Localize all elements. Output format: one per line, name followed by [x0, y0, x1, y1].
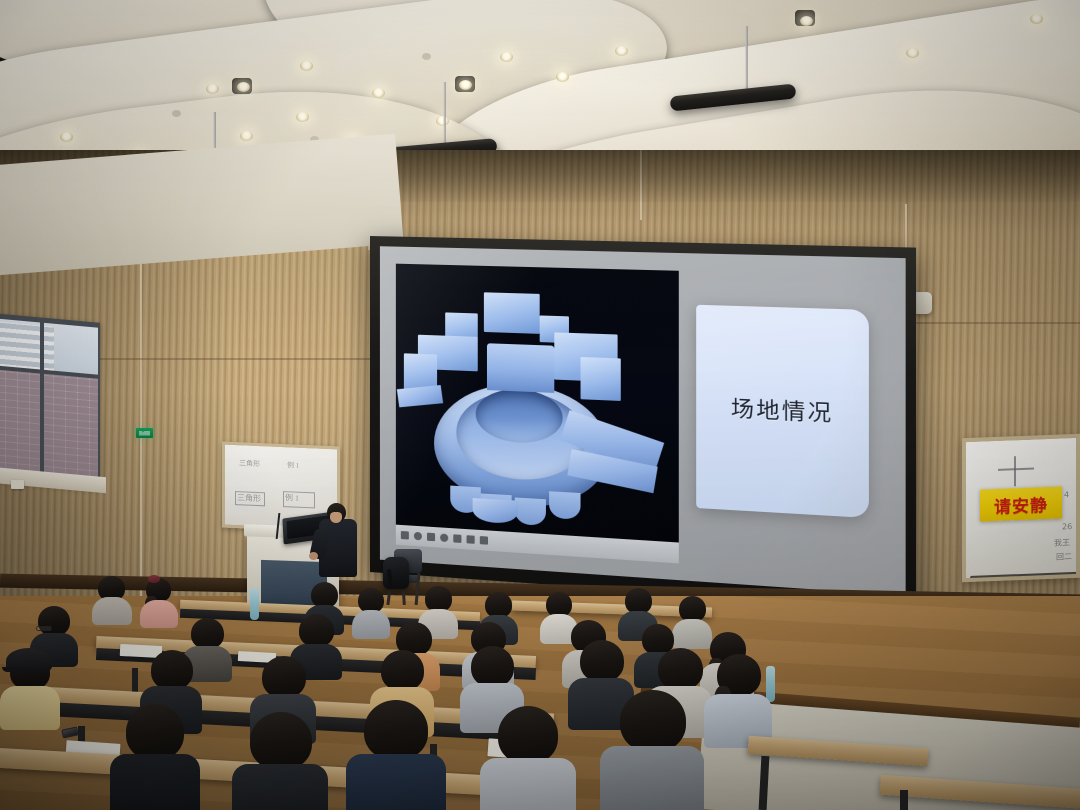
- student: [480, 706, 576, 810]
- student: [352, 588, 390, 636]
- window: [0, 313, 100, 489]
- whiteboard-left-note: 三角形: [239, 459, 260, 469]
- student-head: [250, 712, 312, 770]
- presenter-face: [330, 512, 342, 523]
- model-ramp: [397, 385, 443, 407]
- student-head: [364, 700, 428, 760]
- quiet-notice-text: 请安静: [994, 490, 1048, 517]
- student: [346, 700, 446, 810]
- student-head: [126, 704, 184, 760]
- model-stage-volume: [487, 343, 555, 393]
- student-torso: [352, 610, 390, 639]
- downlight: [296, 112, 309, 122]
- student-head: [498, 706, 558, 764]
- 3d-model-viewport: [396, 264, 679, 543]
- select-icon[interactable]: [414, 532, 422, 541]
- window-brick-wall-outside: [0, 367, 98, 484]
- downlight: [800, 16, 813, 26]
- whiteboard-left-label: 例 1: [285, 493, 299, 503]
- whiteboard-right-note: 回二: [1056, 552, 1072, 563]
- whiteboard-right[interactable]: 请安静 4 26 我王 回二: [962, 434, 1080, 583]
- student-torso: [346, 754, 446, 810]
- model-block: [484, 292, 540, 334]
- student: [140, 578, 178, 624]
- whiteboard-left-label: 三角形: [237, 493, 261, 503]
- slide-title-card: 场地情况: [697, 304, 869, 517]
- whiteboard-cross-mark: [1014, 456, 1016, 486]
- whiteboard-right-note: 我王: [1054, 538, 1070, 549]
- lecture-hall-photo: 三角形 例 1 三角形 例 1 请安静 4 26 我王 回二: [0, 0, 1080, 810]
- student-head: [151, 650, 193, 690]
- eyeglasses: [36, 626, 52, 631]
- model-block: [580, 357, 620, 402]
- student-head: [658, 648, 703, 690]
- student: [704, 654, 772, 746]
- presenter-hand: [309, 552, 318, 560]
- pen-icon[interactable]: [401, 531, 409, 540]
- downlight: [240, 131, 253, 141]
- student-torso: [140, 600, 178, 628]
- sprinkler-icon: [172, 110, 181, 117]
- whiteboard-right-note: 4: [1064, 490, 1069, 500]
- downlight: [372, 88, 385, 98]
- student-head: [191, 618, 224, 649]
- slide-title-text: 场地情况: [731, 392, 834, 428]
- downlight: [237, 82, 250, 92]
- student-head: [471, 646, 514, 687]
- downlight: [615, 46, 628, 56]
- exit-sign: [136, 428, 153, 438]
- cap-brim: [2, 667, 32, 672]
- downlight: [206, 84, 219, 94]
- downlight: [459, 80, 472, 90]
- student-torso: [92, 597, 132, 625]
- projection-screen-surface: 场地情况: [380, 246, 906, 595]
- student-head: [38, 606, 70, 636]
- model-scallop: [549, 492, 580, 521]
- student-head: [262, 656, 306, 698]
- downlight: [906, 48, 919, 58]
- camera-icon[interactable]: [479, 536, 487, 545]
- water-bottle[interactable]: [250, 588, 259, 620]
- wall-outlet[interactable]: [11, 480, 24, 489]
- wall-panel-seam: [100, 358, 380, 360]
- student: [600, 690, 704, 810]
- student: [110, 704, 200, 810]
- downlight: [556, 72, 569, 82]
- backpack-strap: [387, 569, 393, 589]
- student-torso: [110, 754, 200, 810]
- whiteboard-left-note: 例 1: [287, 461, 299, 471]
- student-torso: [480, 758, 576, 810]
- backpack[interactable]: [383, 557, 409, 589]
- downlight: [1030, 14, 1043, 24]
- projection-screen[interactable]: 场地情况: [370, 236, 916, 610]
- sprinkler-icon: [422, 53, 431, 60]
- zoom-icon[interactable]: [453, 535, 461, 544]
- whiteboard-cross-mark: [998, 468, 1034, 471]
- student-head: [620, 690, 686, 752]
- whiteboard-right-note: 26: [1062, 522, 1072, 532]
- orbit-icon[interactable]: [427, 533, 435, 542]
- desk-leg: [132, 668, 138, 694]
- downlight: [60, 132, 73, 142]
- architectural-3d-model: [396, 264, 679, 543]
- downlight: [300, 61, 313, 71]
- student-torso: [600, 746, 704, 810]
- student-head: [580, 640, 624, 682]
- hair-scrunchie: [148, 575, 160, 583]
- student: [232, 712, 328, 810]
- pan-icon[interactable]: [440, 534, 448, 543]
- downlight: [500, 52, 513, 62]
- model-ramp: [473, 498, 518, 525]
- student-torso: [0, 686, 60, 730]
- quiet-notice-sign: 请安静: [980, 486, 1062, 521]
- window-building-outside: [0, 321, 54, 372]
- window-mullion: [40, 317, 44, 483]
- student-torso: [232, 764, 328, 810]
- desk-leg: [900, 790, 908, 810]
- speaker-pendant-rod: [745, 26, 748, 90]
- model-scallop: [515, 498, 546, 526]
- presenter: [316, 503, 360, 575]
- student: [0, 648, 60, 724]
- speaker-pendant-rod: [443, 82, 446, 144]
- student-head: [299, 614, 334, 647]
- student: [92, 576, 132, 622]
- student-head: [381, 650, 424, 691]
- section-icon[interactable]: [466, 535, 474, 544]
